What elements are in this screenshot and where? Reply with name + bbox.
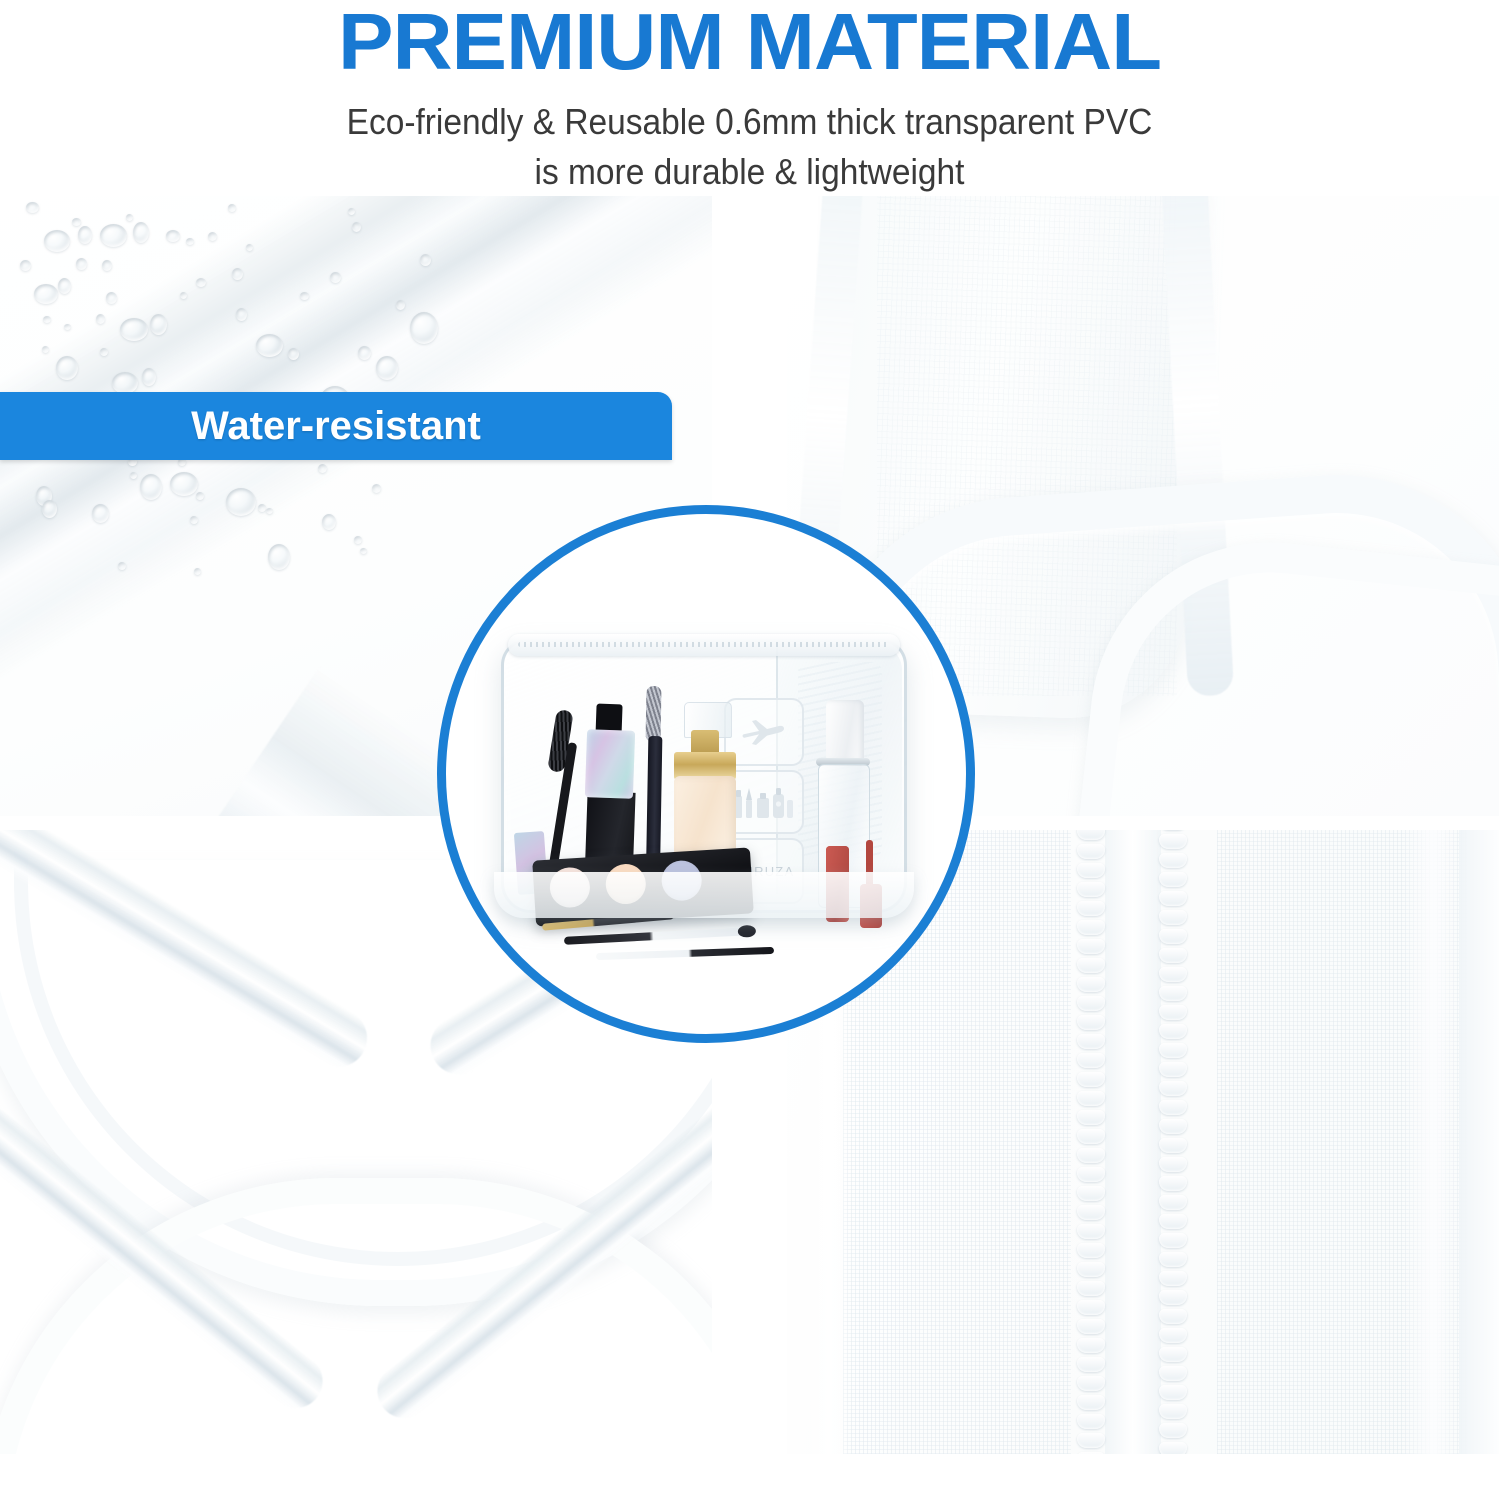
hero-product-circle: AURUZA <box>437 505 975 1043</box>
zipper-tooth <box>1077 1129 1105 1144</box>
water-droplet <box>236 308 247 321</box>
zipper-tooth <box>1159 1233 1187 1248</box>
zipper-tooth <box>1159 1043 1187 1058</box>
cosmetics-kit-icon <box>733 784 795 820</box>
zipper-tooth <box>1159 1309 1187 1324</box>
water-droplet <box>180 292 187 299</box>
zipper-center-channel <box>1105 830 1161 1454</box>
water-droplet <box>322 514 336 530</box>
zipper-tooth <box>1159 1157 1187 1172</box>
zipper-tooth <box>1077 1015 1105 1030</box>
airplane-icon <box>741 715 787 749</box>
zipper-tooth <box>1159 1176 1187 1191</box>
water-droplet <box>102 260 112 271</box>
zipper-tooth <box>1077 882 1105 897</box>
brow-spoolie-head <box>646 686 662 742</box>
product-infographic: PREMIUM MATERIAL Eco-friendly & Reusable… <box>0 0 1499 1500</box>
pouch-zipper <box>508 634 900 656</box>
zipper-tooth <box>1077 977 1105 992</box>
holographic-tube-sleeve <box>585 729 635 799</box>
water-droplet <box>190 516 198 524</box>
zipper-tooth <box>1077 1148 1105 1163</box>
zipper-edge <box>1459 830 1499 1454</box>
water-droplet <box>232 268 243 280</box>
water-droplet <box>372 484 381 493</box>
water-droplet <box>44 230 70 252</box>
water-droplet <box>118 562 126 570</box>
zipper-tooth <box>1077 1414 1105 1429</box>
water-droplet <box>64 324 71 330</box>
water-droplet <box>352 222 361 232</box>
water-droplet <box>288 348 299 360</box>
water-droplet <box>170 472 198 496</box>
water-droplet <box>106 292 117 304</box>
zipper-tooth <box>1077 1319 1105 1334</box>
zipper-tooth <box>1159 1271 1187 1286</box>
water-droplet <box>376 356 398 380</box>
zipper-tooth <box>1159 910 1187 925</box>
cosmetics-badge <box>724 770 804 834</box>
water-droplet <box>100 348 108 356</box>
zipper-tooth <box>1077 1376 1105 1391</box>
water-droplet <box>360 548 367 554</box>
label-water-resistant: Water-resistant <box>0 392 672 460</box>
zipper-tooth <box>1159 929 1187 944</box>
zipper-tooth <box>1159 1328 1187 1343</box>
zipper-tooth <box>1159 1138 1187 1153</box>
zipper-tooth <box>1077 1300 1105 1315</box>
water-droplet <box>42 346 49 353</box>
zipper-teeth-right <box>1159 830 1189 1454</box>
zipper-tooth <box>1159 1347 1187 1362</box>
water-droplet <box>26 202 39 213</box>
zipper-tooth <box>1159 1366 1187 1381</box>
zipper-tooth <box>1077 1224 1105 1239</box>
water-droplet <box>43 316 51 323</box>
water-droplet <box>72 218 81 226</box>
water-droplet <box>186 238 194 245</box>
water-droplet <box>258 504 266 512</box>
water-droplet <box>150 314 167 335</box>
water-droplet <box>268 544 290 570</box>
water-droplet <box>396 300 405 310</box>
water-droplet <box>56 356 78 380</box>
water-droplet <box>420 254 431 266</box>
zipper-tooth <box>1159 1062 1187 1077</box>
water-droplet <box>126 214 133 221</box>
zipper-tooth <box>1159 872 1187 887</box>
water-droplet <box>133 222 149 243</box>
water-droplet <box>78 226 92 244</box>
zipper-tooth <box>1159 1252 1187 1267</box>
zipper-tooth <box>1159 834 1187 849</box>
makeup-brush <box>596 947 774 960</box>
subtitle-line-2: is more durable & lightweight <box>52 147 1446 197</box>
zipper-tooth <box>1159 1100 1187 1115</box>
zipper-tooth <box>1159 1024 1187 1039</box>
page-title: PREMIUM MATERIAL <box>0 0 1499 88</box>
zipper-tooth <box>1077 1338 1105 1353</box>
zipper-tooth <box>1159 1442 1187 1454</box>
zipper-tooth <box>1077 1262 1105 1277</box>
airplane-badge <box>724 698 804 766</box>
water-droplet <box>166 230 180 242</box>
zipper-tooth <box>1159 1081 1187 1096</box>
water-droplet <box>300 292 309 300</box>
water-droplet <box>354 536 362 544</box>
zipper-tooth <box>1077 901 1105 916</box>
zipper-tooth <box>1077 1091 1105 1106</box>
zipper-tooth <box>1159 1214 1187 1229</box>
zipper-tooth <box>1077 1395 1105 1410</box>
water-droplet <box>358 346 371 360</box>
zipper-tooth <box>1159 967 1187 982</box>
water-droplet <box>96 314 105 324</box>
water-droplet <box>246 244 253 251</box>
water-droplet <box>120 318 148 341</box>
water-droplet <box>196 278 206 287</box>
zipper-tooth <box>1077 1243 1105 1258</box>
zipper-tooth <box>1077 844 1105 859</box>
water-droplet <box>142 368 156 386</box>
water-droplet <box>58 278 71 294</box>
zipper-tooth <box>1077 1186 1105 1201</box>
makeup-brush <box>564 927 750 945</box>
zipper-tooth <box>1077 1205 1105 1220</box>
water-droplet <box>130 472 137 479</box>
zipper-highlight-right <box>1403 830 1463 1454</box>
zipper-tooth <box>1159 1290 1187 1305</box>
water-droplet <box>42 500 57 518</box>
water-droplet <box>34 284 58 304</box>
zipper-tooth <box>1077 1433 1105 1448</box>
water-droplet <box>194 568 201 575</box>
zipper-tooth <box>1159 1119 1187 1134</box>
zipper-teeth-left <box>1077 830 1107 1454</box>
zipper-tooth <box>1077 920 1105 935</box>
zipper-tooth <box>1077 1110 1105 1125</box>
water-droplet <box>410 312 438 344</box>
subtitle-line-1: Eco-friendly & Reusable 0.6mm thick tran… <box>52 97 1446 147</box>
zipper-tooth <box>1159 1423 1187 1438</box>
hero-inner: AURUZA <box>446 514 966 1034</box>
water-droplet <box>226 488 256 516</box>
water-droplet <box>100 224 127 247</box>
zipper-tooth <box>1077 1167 1105 1182</box>
water-droplet <box>196 492 204 500</box>
header: PREMIUM MATERIAL Eco-friendly & Reusable… <box>0 0 1499 190</box>
zipper-tooth <box>1077 1357 1105 1372</box>
zipper-tooth <box>1159 1385 1187 1400</box>
water-droplet <box>140 474 162 500</box>
water-droplet <box>20 260 31 271</box>
zipper-tooth <box>1159 1005 1187 1020</box>
zipper-tooth <box>1077 958 1105 973</box>
zipper-tooth <box>1077 996 1105 1011</box>
zipper-tooth <box>1077 939 1105 954</box>
water-droplet <box>208 232 217 241</box>
water-droplet <box>266 508 273 514</box>
water-droplet <box>228 204 236 212</box>
zipper-tooth <box>1159 891 1187 906</box>
zipper-tooth <box>1077 863 1105 878</box>
zipper-tooth <box>1159 986 1187 1001</box>
water-droplet <box>348 208 355 215</box>
zipper-tooth <box>1077 1053 1105 1068</box>
spray-bottle-cap <box>826 700 864 762</box>
zipper-tooth <box>1077 830 1105 840</box>
water-droplet <box>330 272 341 283</box>
zipper-tooth <box>1077 1452 1105 1454</box>
zipper-tooth <box>1159 1404 1187 1419</box>
water-droplet <box>76 258 87 270</box>
water-droplet <box>112 372 138 394</box>
zipper-tooth <box>1159 853 1187 868</box>
zipper-tooth <box>1077 1072 1105 1087</box>
water-droplet <box>256 334 283 357</box>
zipper-tooth <box>1077 1034 1105 1049</box>
zipper-tooth <box>1159 1195 1187 1210</box>
page-subtitle: Eco-friendly & Reusable 0.6mm thick tran… <box>52 97 1446 197</box>
zipper-tooth <box>1077 1281 1105 1296</box>
zipper-tooth <box>1159 948 1187 963</box>
water-droplet <box>318 464 327 473</box>
pouch-base <box>494 872 914 918</box>
water-droplet <box>92 504 109 523</box>
